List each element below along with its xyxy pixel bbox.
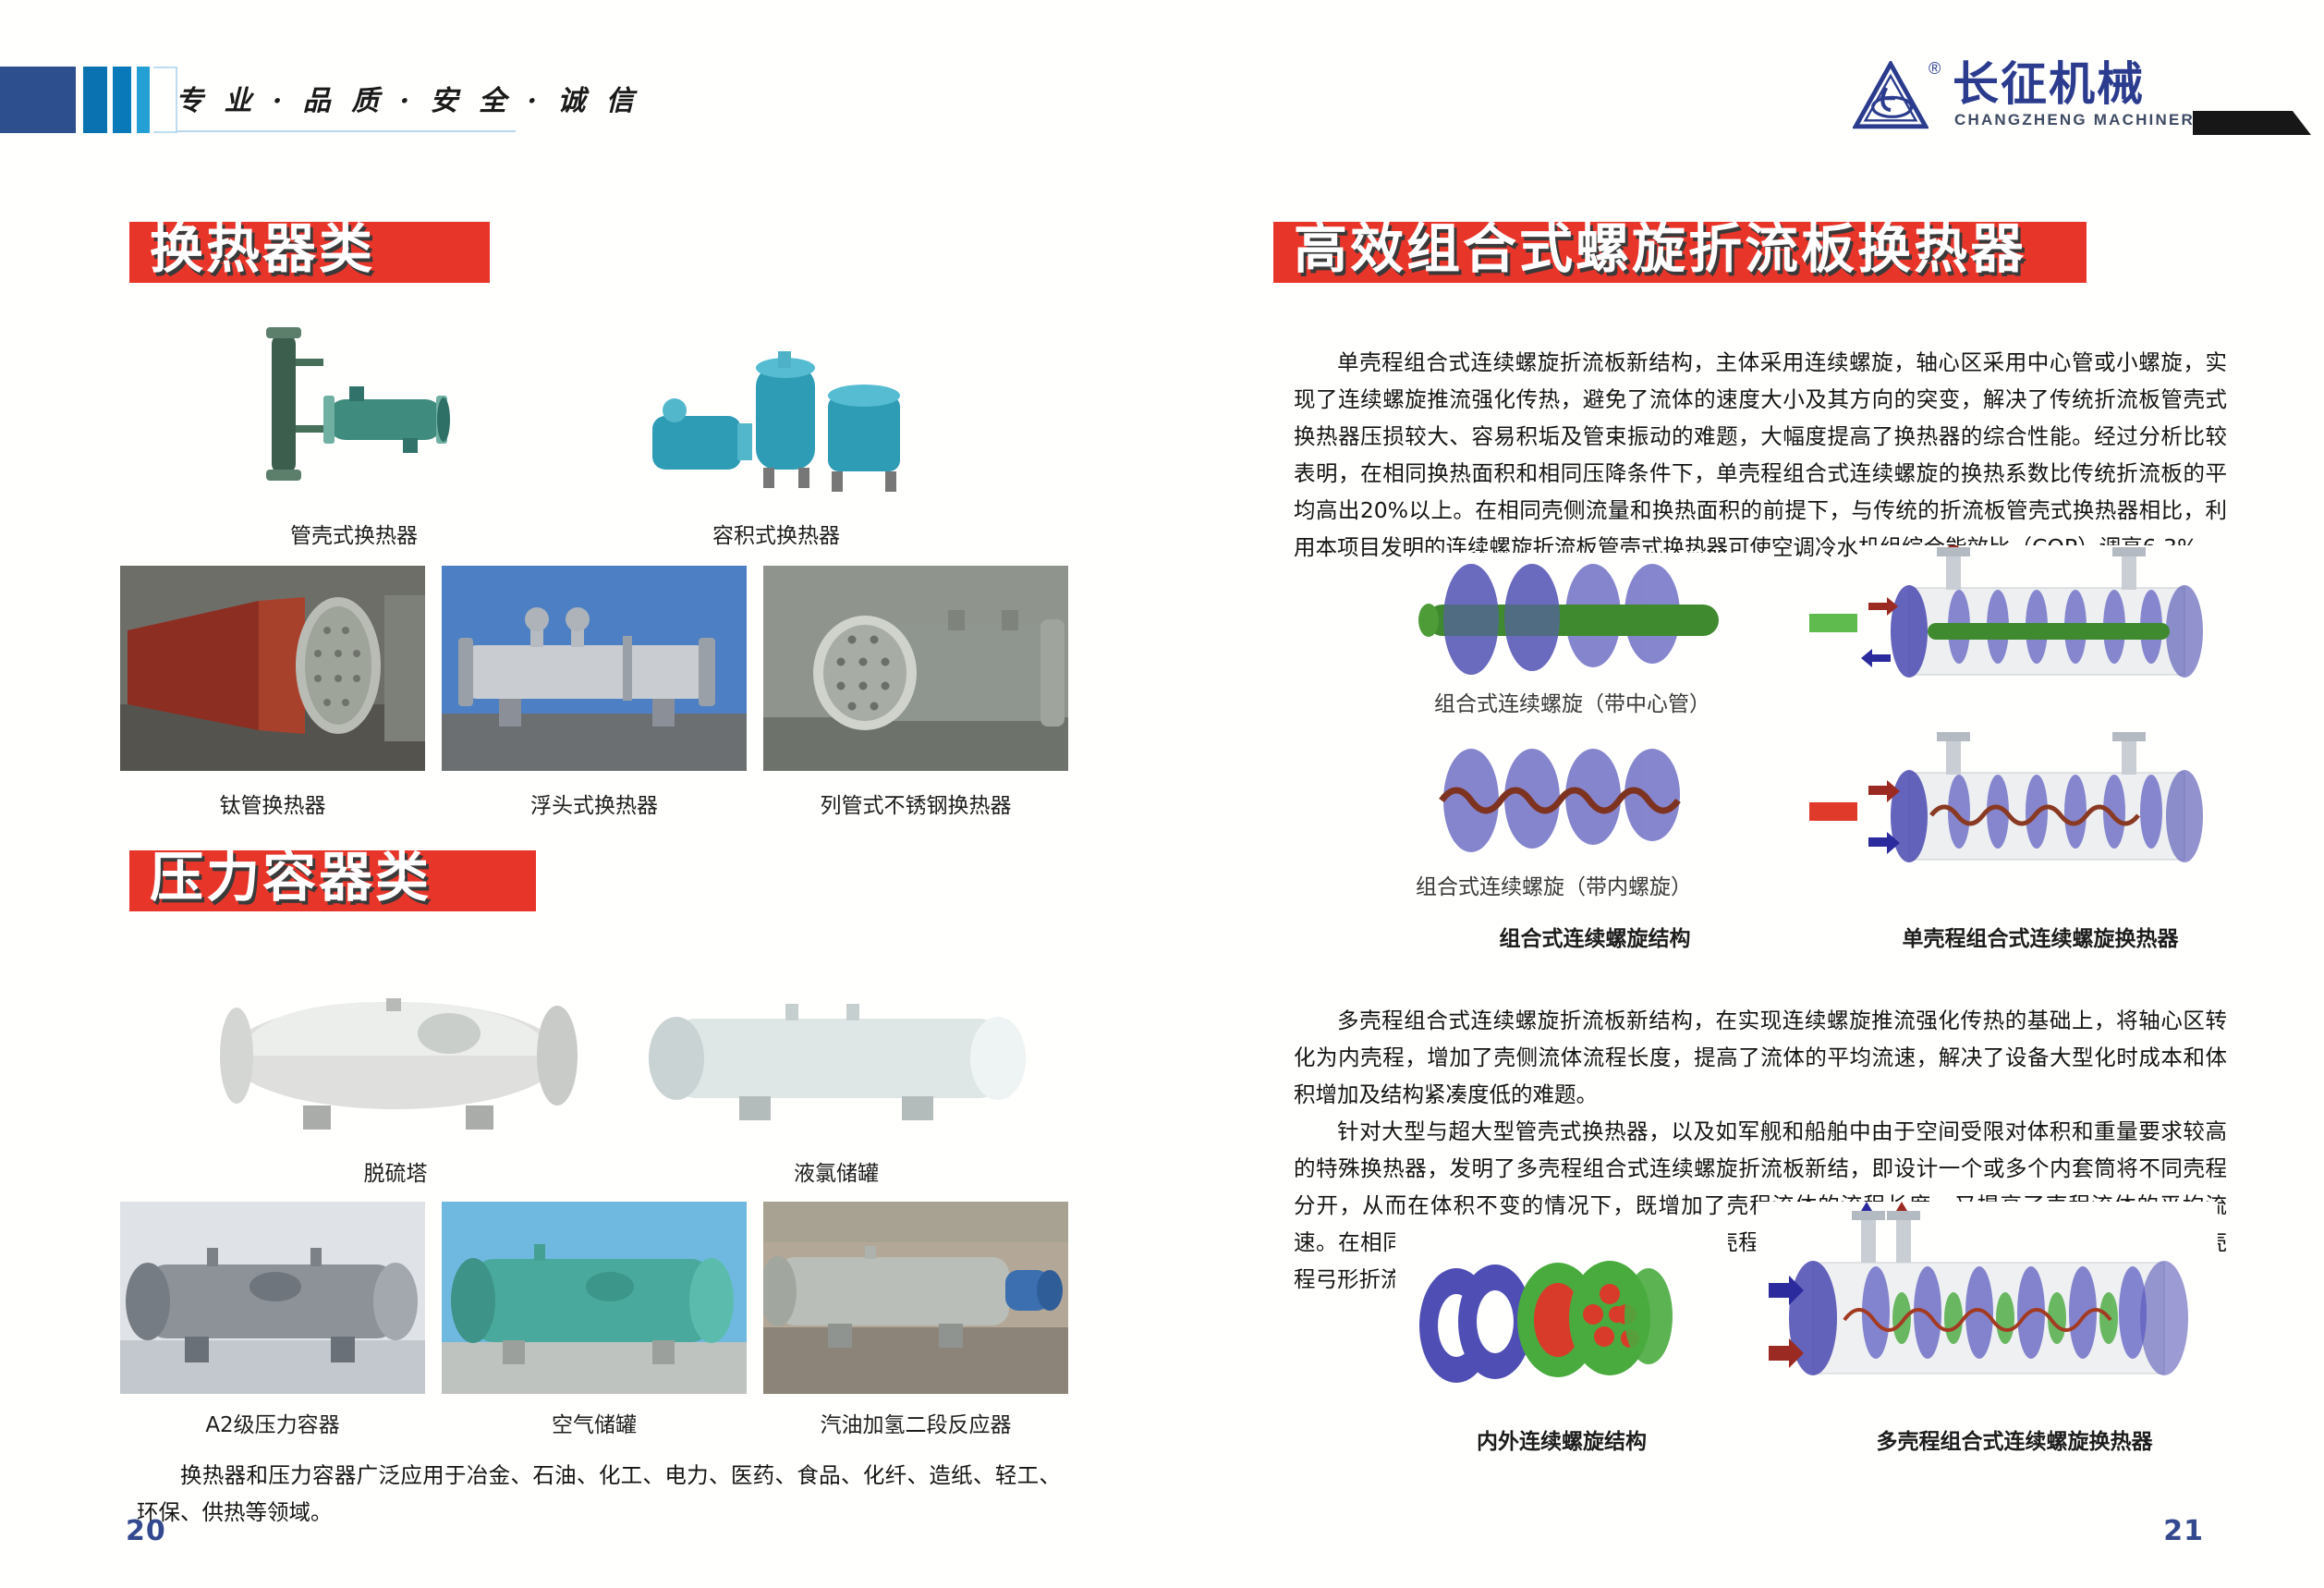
label-spiral-inner-spiral: 组合式连续螺旋（带内螺旋） — [1416, 869, 1692, 900]
product-image-floating-head — [442, 566, 747, 771]
diagram-inner-outer-spiral-structure — [1395, 1229, 1728, 1414]
header-divider — [176, 130, 516, 132]
section-title-1: 换热器类 — [150, 211, 375, 287]
diagram-single-shell-exchanger — [1857, 545, 2227, 702]
bar-blue-2 — [113, 67, 131, 133]
section-header-heat-exchanger: 换热器类 — [129, 222, 490, 283]
caption-shell-tube: 管壳式换热器 — [238, 518, 469, 549]
product-image-stainless-tube — [763, 566, 1068, 771]
diagram-spiral-inner-spiral — [1414, 739, 1774, 869]
registered-mark: ® — [1929, 59, 1941, 79]
diagram-single-shell-exchanger-inner — [1857, 730, 2227, 887]
caption-chlorine-tank: 液氯储罐 — [628, 1155, 1044, 1187]
logo-tab-shape — [2193, 105, 2313, 137]
bar-navy — [0, 67, 76, 133]
right-paragraph-2: 多壳程组合式连续螺旋折流板新结构，在实现连续螺旋推流强化传热的基础上，将轴心区转… — [1294, 1002, 2227, 1113]
right-paragraph-1: 单壳程组合式连续螺旋折流板新结构，主体采用连续螺旋，轴心区采用中心管或小螺旋，实… — [1294, 344, 2227, 566]
brochure-spread: 专 业 · 品 质 · 安 全 · 诚 信 ® 长征机械 CHANGZHENG … — [0, 0, 2324, 1588]
page-number-right: 21 — [2163, 1515, 2204, 1547]
bar-blue-1 — [83, 67, 107, 133]
caption-floating-head: 浮头式换热器 — [442, 788, 747, 819]
logo-english-name: CHANGZHENG MACHINERY — [1954, 111, 2207, 129]
section-title-2: 压力容器类 — [150, 839, 432, 915]
product-image-titanium — [120, 566, 425, 771]
caption-a2-vessel: A2级压力容器 — [120, 1407, 425, 1438]
bar-blue-3 — [137, 67, 150, 133]
caption-hydrogenation-reactor: 汽油加氢二段反应器 — [763, 1407, 1068, 1438]
label-exchanger-1: 单壳程组合式连续螺旋换热器 — [1819, 921, 2262, 952]
product-image-hydrogenation-reactor — [763, 1202, 1068, 1394]
diagram-spiral-center-tube — [1414, 553, 1774, 691]
caption-titanium: 钛管换热器 — [120, 788, 425, 819]
product-image-desulfurization-tower — [201, 952, 590, 1154]
label-structure-2: 内外连续螺旋结构 — [1395, 1423, 1728, 1455]
product-image-a2-vessel — [120, 1202, 425, 1394]
page-number-left: 20 — [126, 1515, 166, 1547]
product-image-volumetric — [647, 349, 906, 502]
label-exchanger-2: 多壳程组合式连续螺旋换热器 — [1783, 1423, 2245, 1455]
left-page-footnote: 换热器和压力容器广泛应用于冶金、石油、化工、电力、医药、食品、化纤、造纸、轻工、… — [137, 1457, 1061, 1531]
triangle-logo-icon — [1853, 61, 1929, 129]
product-image-air-tank — [442, 1202, 747, 1394]
bar-outline — [153, 67, 177, 133]
section-header-pressure-vessel: 压力容器类 — [129, 850, 536, 911]
product-image-chlorine-tank — [628, 961, 1044, 1148]
right-page-title: 高效组合式螺旋折流板换热器 — [1294, 211, 2026, 287]
company-logo: ® 长征机械 CHANGZHENG MACHINERY — [1853, 57, 2232, 137]
logo-chinese-name: 长征机械 — [1953, 59, 2145, 109]
label-spiral-center-tube: 组合式连续螺旋（带中心管） — [1434, 686, 1710, 717]
caption-stainless-tube: 列管式不锈钢换热器 — [763, 788, 1068, 819]
diagram-multi-shell-exchanger — [1756, 1202, 2218, 1414]
product-image-shell-tube — [238, 314, 469, 499]
company-slogan: 专 业 · 品 质 · 安 全 · 诚 信 — [176, 78, 639, 118]
caption-volumetric: 容积式换热器 — [647, 518, 906, 549]
caption-desulfurization-tower: 脱硫塔 — [201, 1155, 590, 1187]
label-structure-1: 组合式连续螺旋结构 — [1410, 921, 1780, 952]
caption-air-tank: 空气储罐 — [442, 1407, 747, 1438]
section-header-spiral-exchanger: 高效组合式螺旋折流板换热器 — [1273, 222, 2087, 283]
